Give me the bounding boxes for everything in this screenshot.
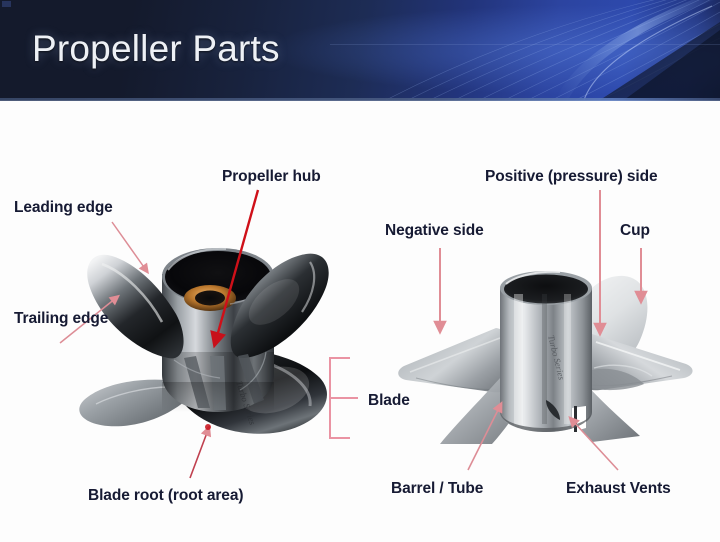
label-propeller-hub: Propeller hub (222, 168, 321, 186)
label-barrel-tube: Barrel / Tube (391, 480, 483, 498)
label-blade: Blade (368, 392, 410, 410)
slide-canvas: Propeller Parts (0, 0, 720, 542)
label-blade-root: Blade root (root area) (88, 487, 243, 505)
label-leading-edge: Leading edge (14, 199, 113, 217)
leader-leading-edge (112, 222, 146, 270)
page-title: Propeller Parts (32, 25, 280, 73)
slide-header-banner: Propeller Parts (0, 0, 720, 100)
blade-root-marker (205, 424, 211, 430)
label-positive-pressure-side: Positive (pressure) side (485, 168, 657, 186)
label-negative-side: Negative side (385, 222, 484, 240)
leader-barrel-tube (468, 406, 500, 470)
leader-blade-root (190, 430, 208, 478)
label-exhaust-vents: Exhaust Vents (566, 480, 671, 498)
header-corner-nib (2, 1, 11, 7)
leader-exhaust-vents (572, 420, 618, 470)
leader-propeller-hub (216, 190, 258, 340)
label-trailing-edge: Trailing edge (14, 310, 108, 328)
label-cup: Cup (620, 222, 650, 240)
